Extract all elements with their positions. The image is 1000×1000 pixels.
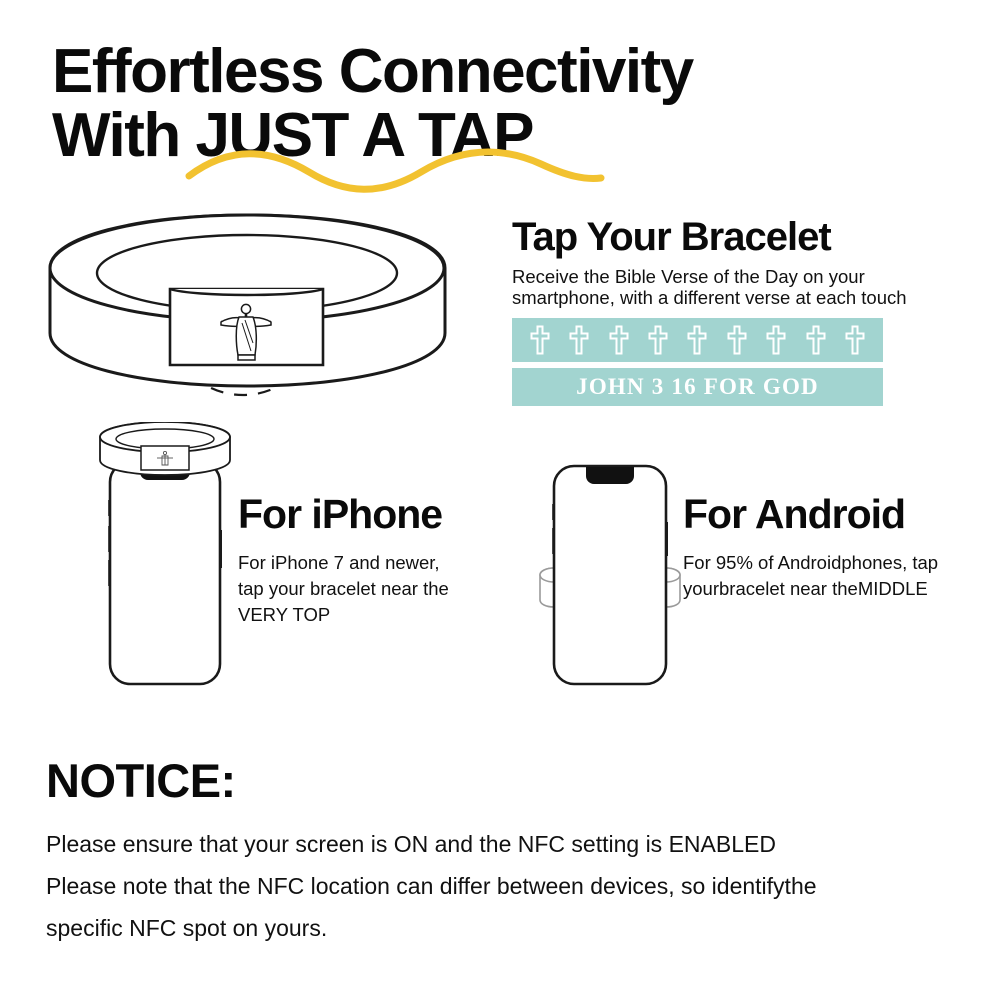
android-phone-outline-icon: [530, 460, 690, 690]
iphone-body: For iPhone 7 and newer, tap your bracele…: [238, 550, 468, 628]
verse-label: JOHN 3 16 FOR GOD: [576, 374, 819, 400]
notice-line: Please note that the NFC location can di…: [46, 865, 966, 907]
iphone-outline-icon: [88, 422, 248, 687]
crosses-banner: [512, 318, 883, 362]
notice-line: specific NFC spot on yours.: [46, 907, 966, 949]
notice-block: NOTICE: Please ensure that your screen i…: [46, 755, 966, 949]
android-text-block: For Android For 95% of Androidphones, ta…: [683, 492, 948, 602]
cross-icon: [569, 325, 589, 355]
tap-heading: Tap Your Bracelet: [512, 214, 942, 260]
cross-icon: [806, 325, 826, 355]
tap-your-bracelet-panel: Tap Your Bracelet Receive the Bible Vers…: [512, 214, 942, 308]
notice-heading: NOTICE:: [46, 755, 966, 807]
cross-icon: [727, 325, 747, 355]
iphone-text-block: For iPhone For iPhone 7 and newer, tap y…: [238, 492, 468, 628]
title-line-2: With JUST A TAP: [52, 104, 952, 168]
cross-icon: [530, 325, 550, 355]
bracelet-ring-icon: [100, 422, 230, 475]
tap-subtext: Receive the Bible Verse of the Day on yo…: [512, 266, 942, 308]
verse-banner: JOHN 3 16 FOR GOD: [512, 368, 883, 406]
header-title-block: Effortless Connectivity With JUST A TAP: [52, 40, 952, 168]
title-line-1: Effortless Connectivity: [52, 40, 952, 104]
cross-icon: [687, 325, 707, 355]
cross-icon: [845, 325, 865, 355]
cross-icon: [766, 325, 786, 355]
notice-lines: Please ensure that your screen is ON and…: [46, 823, 966, 949]
android-body: For 95% of Androidphones, tap yourbracel…: [683, 550, 948, 602]
cross-icon: [609, 325, 629, 355]
iphone-heading: For iPhone: [238, 492, 468, 536]
cross-icon: [648, 325, 668, 355]
notice-line: Please ensure that your screen is ON and…: [46, 823, 966, 865]
bracelet-ring-illustration: [45, 205, 455, 430]
android-heading: For Android: [683, 492, 948, 536]
